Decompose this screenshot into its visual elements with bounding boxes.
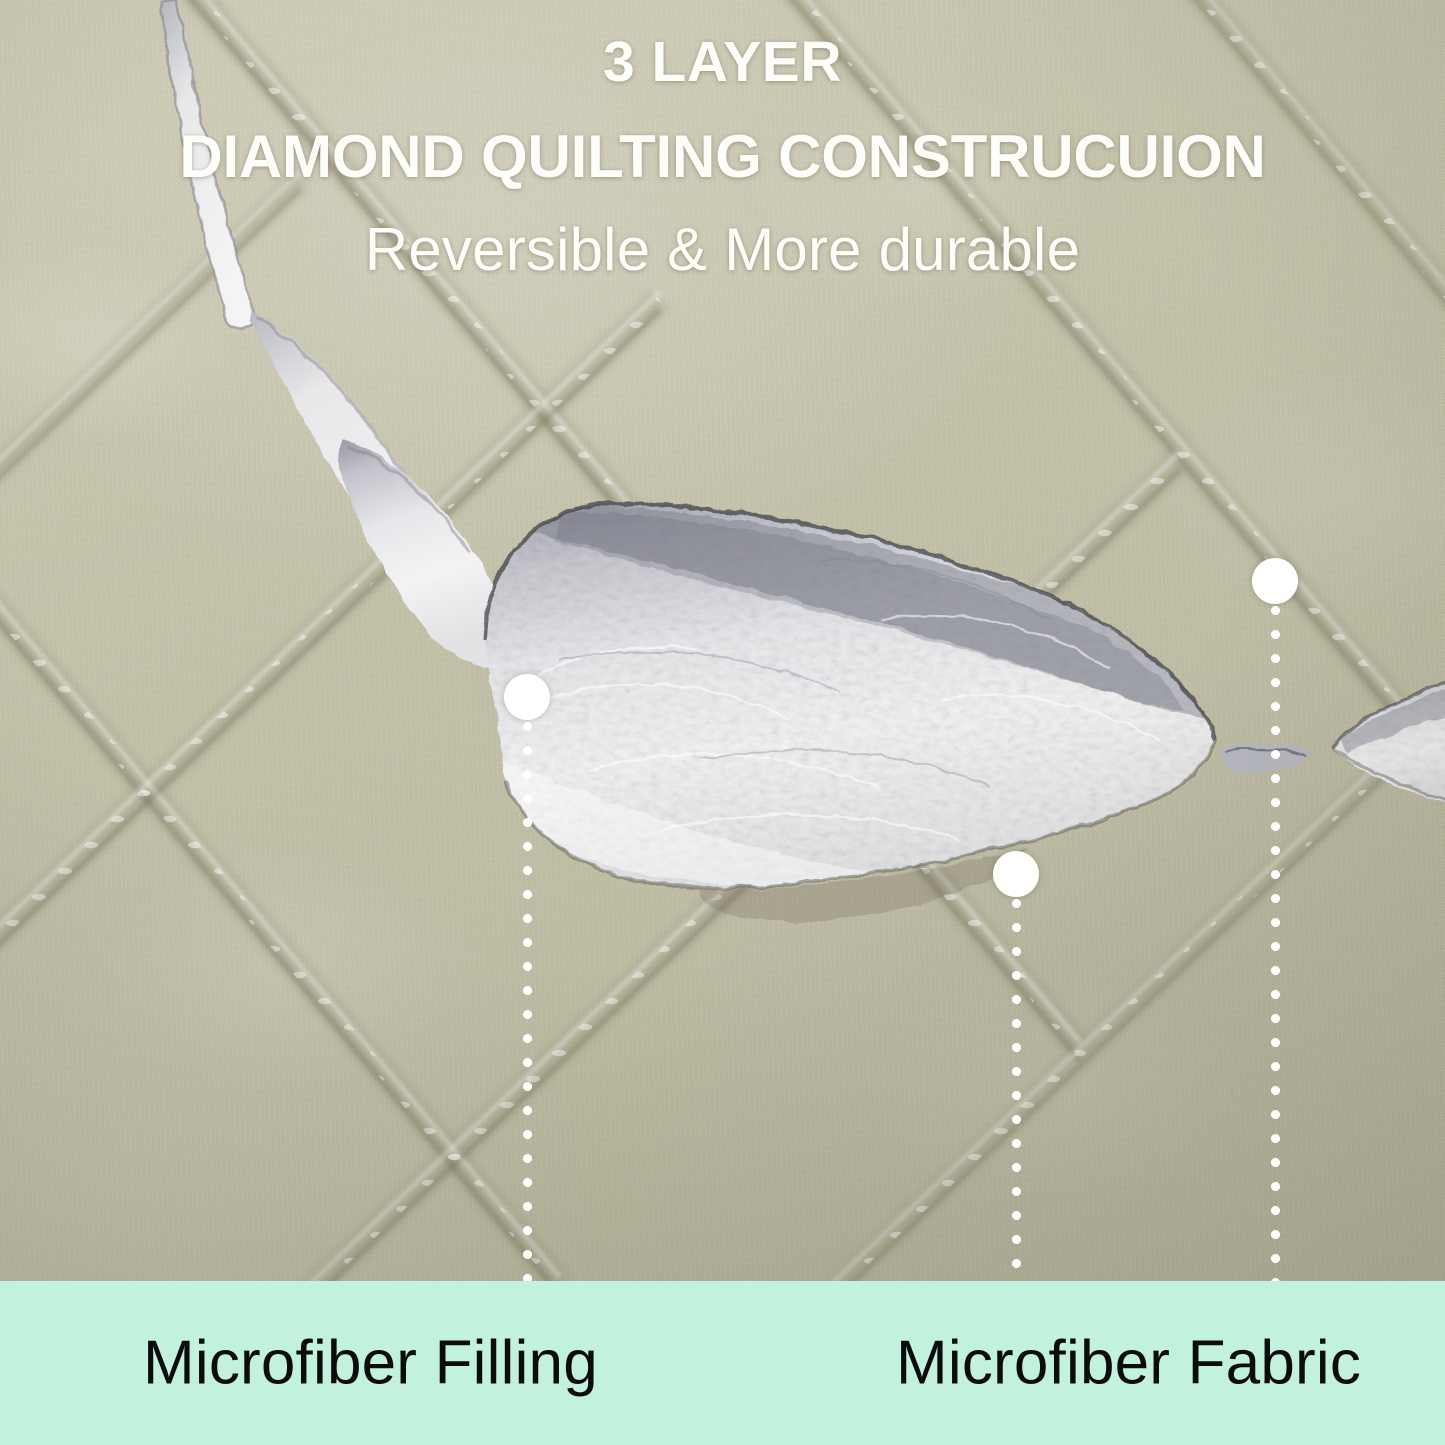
label-microfiber-fabric: Microfiber Fabric [896, 1328, 1361, 1399]
callout-dot-fabric-back [1252, 558, 1298, 604]
callout-leader-line-fabric-front [1012, 899, 1021, 1284]
infographic-image: 3 LAYER DIAMOND QUILTING CONSTRUCUION Re… [0, 0, 1445, 1445]
callout-dot-filling [504, 674, 550, 720]
label-microfiber-filling: Microfiber Filling [143, 1328, 598, 1399]
callout-leader-line-filling [523, 722, 532, 1282]
photo-vignette [0, 0, 1445, 1285]
product-photo: 3 LAYER DIAMOND QUILTING CONSTRUCUION Re… [0, 0, 1445, 1285]
callout-dot-fabric-front [993, 851, 1039, 897]
callout-leader-line-fabric-back [1271, 606, 1280, 1284]
layer-label-banner: Microfiber Filling Microfiber Fabric [0, 1281, 1445, 1445]
